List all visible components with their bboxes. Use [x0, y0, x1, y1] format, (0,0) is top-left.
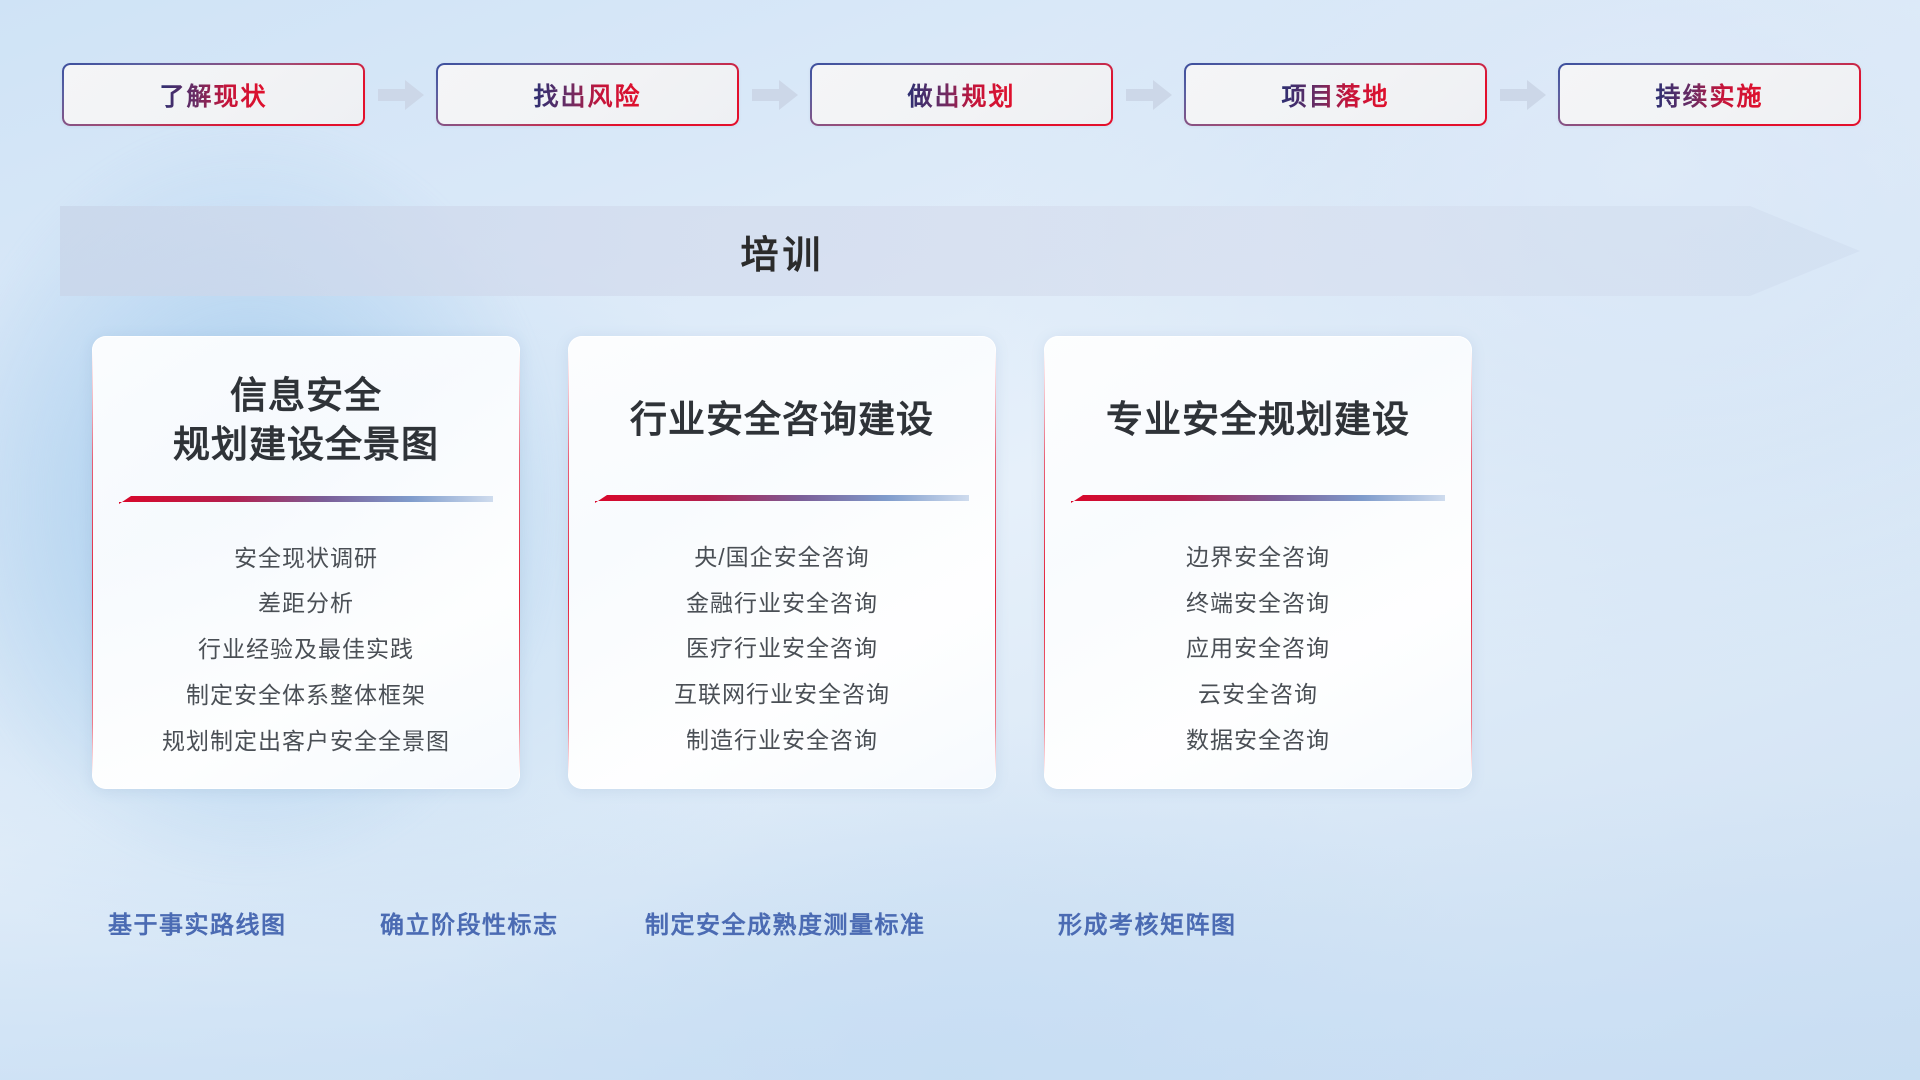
list-item: 安全现状调研: [234, 544, 378, 573]
footnote-label: 基于事实路线图: [108, 905, 287, 940]
arrow-right-icon: [365, 63, 436, 126]
step-item-5[interactable]: 持续实施: [1558, 63, 1861, 126]
process-step-bar: 了解现状 找出风险 做出规划 项目落地: [62, 63, 1862, 126]
step-label: 持续实施: [1655, 77, 1763, 113]
training-band: 培训: [60, 206, 1860, 296]
card-group: 信息安全 规划建设全景图 安全现状调研: [92, 336, 1832, 789]
arrow-right-icon: [1113, 63, 1184, 126]
list-item: 金融行业安全咨询: [686, 589, 878, 618]
card-list: 安全现状调研 差距分析 行业经验及最佳实践 制定安全体系整体框架 规划制定出客户…: [114, 544, 498, 756]
card-divider: [119, 494, 493, 510]
footnote-label: 形成考核矩阵图: [1058, 905, 1237, 940]
step-label: 项目落地: [1281, 77, 1389, 113]
step-item-4[interactable]: 项目落地: [1184, 63, 1487, 126]
step-label: 找出风险: [533, 77, 641, 113]
list-item: 制定安全体系整体框架: [186, 681, 426, 710]
list-item: 边界安全咨询: [1186, 543, 1330, 572]
card-list: 央/国企安全咨询 金融行业安全咨询 医疗行业安全咨询 互联网行业安全咨询 制造行…: [590, 543, 974, 755]
step-item-1[interactable]: 了解现状: [62, 63, 365, 126]
card-title: 行业安全咨询建设: [630, 372, 934, 469]
training-band-label: 培训: [60, 206, 1505, 296]
list-item: 制造行业安全咨询: [686, 726, 878, 755]
arrow-right-icon: [1487, 63, 1558, 126]
list-item: 终端安全咨询: [1186, 589, 1330, 618]
card-divider: [595, 493, 969, 509]
step-item-3[interactable]: 做出规划: [810, 63, 1113, 126]
list-item: 医疗行业安全咨询: [686, 634, 878, 663]
step-label: 了解现状: [159, 77, 267, 113]
card-industry-security-consulting[interactable]: 行业安全咨询建设 央/国企安全咨询: [568, 336, 996, 789]
card-information-security-panorama[interactable]: 信息安全 规划建设全景图 安全现状调研: [92, 336, 520, 789]
list-item: 云安全咨询: [1198, 680, 1318, 709]
footnote-label: 确立阶段性标志: [380, 905, 559, 940]
list-item: 数据安全咨询: [1186, 726, 1330, 755]
footnote-row: 基于事实路线图 确立阶段性标志 制定安全成熟度测量标准 形成考核矩阵图: [0, 905, 1920, 955]
card-divider: [1071, 493, 1445, 509]
card-title: 信息安全 规划建设全景图: [173, 372, 439, 470]
card-professional-security-planning[interactable]: 专业安全规划建设 边界安全咨询: [1044, 336, 1472, 789]
card-accent-edge-right: [519, 350, 520, 775]
step-item-2[interactable]: 找出风险: [436, 63, 739, 126]
card-accent-edge-right: [995, 350, 996, 775]
slide-canvas: 了解现状 找出风险 做出规划 项目落地: [0, 0, 1920, 1080]
card-accent-edge-right: [1471, 350, 1472, 775]
step-label: 做出规划: [907, 77, 1015, 113]
list-item: 差距分析: [258, 589, 354, 618]
card-accent-edge-left: [1044, 350, 1045, 775]
card-accent-edge-left: [568, 350, 569, 775]
card-accent-edge-left: [92, 350, 93, 775]
list-item: 央/国企安全咨询: [694, 543, 869, 572]
card-title: 专业安全规划建设: [1106, 372, 1410, 469]
footnote-label: 制定安全成熟度测量标准: [645, 905, 926, 940]
list-item: 行业经验及最佳实践: [198, 635, 414, 664]
card-list: 边界安全咨询 终端安全咨询 应用安全咨询 云安全咨询 数据安全咨询: [1066, 543, 1450, 755]
list-item: 互联网行业安全咨询: [674, 680, 890, 709]
list-item: 规划制定出客户安全全景图: [162, 727, 450, 756]
list-item: 应用安全咨询: [1186, 634, 1330, 663]
arrow-right-icon: [739, 63, 810, 126]
